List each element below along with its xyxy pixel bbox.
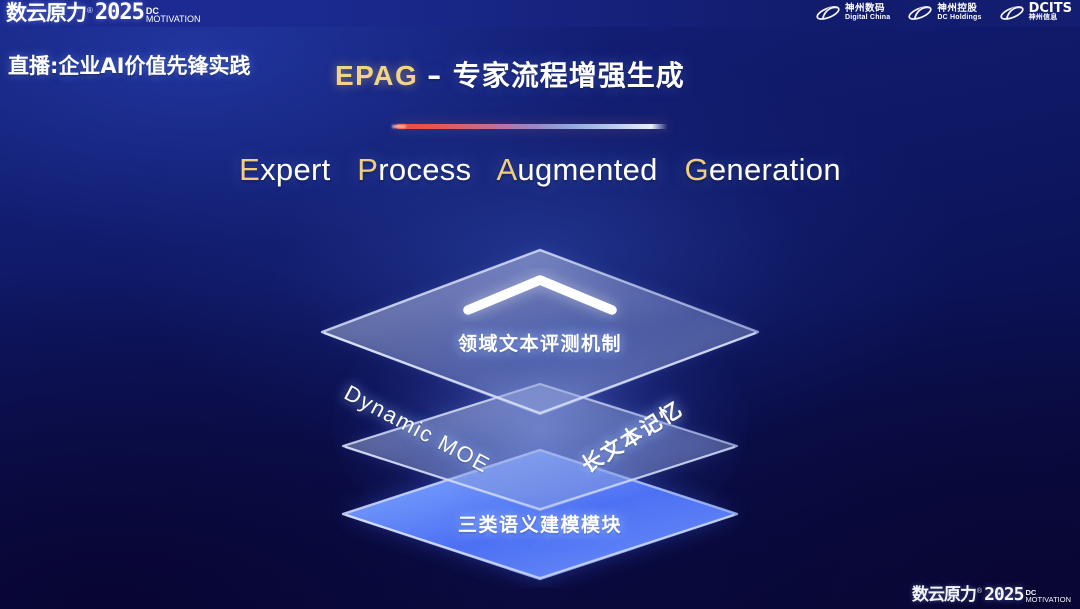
logo-label-en: 神州信息 <box>1029 13 1072 22</box>
swirl-logo-icon <box>999 3 1025 23</box>
expansion-word-expert: Expert <box>239 152 330 187</box>
watermark-year: 2025 <box>984 586 1023 604</box>
partner-logos: 神州数码 Digital China 神州控股 DC Holdings DC <box>815 3 1072 23</box>
page-title: EPAG – 专家流程增强生成 <box>335 54 685 94</box>
logo-label-en: DC Holdings <box>937 13 981 22</box>
brand-registered-mark: ® <box>87 6 93 16</box>
stack-label-top: 领域文本评测机制 <box>300 329 780 356</box>
watermark-name-cn: 数云原力 <box>912 586 976 604</box>
acronym-expansion: Expert Process Augmented Generation <box>0 152 1080 188</box>
brand-year: 2025 <box>95 2 144 24</box>
brand-name-cn: 数云原力 <box>6 2 86 24</box>
page-title-acronym: EPAG <box>335 60 418 91</box>
expansion-word-augmented: Augmented <box>496 152 657 187</box>
swirl-logo-icon <box>907 3 933 23</box>
logo-label-en: Digital China <box>845 13 890 22</box>
logo-label-cn: 神州控股 <box>937 4 981 13</box>
slide-canvas: 数云原力 ® 2025 DC MOTIVATION 神州数码 Digital C… <box>0 0 1080 609</box>
brand-motivation-text: MOTIVATION <box>146 15 201 23</box>
expansion-word-generation: Generation <box>684 152 840 187</box>
logo-label-cn: 神州数码 <box>845 4 890 13</box>
watermark-dc-motivation: DC MOTIVATION <box>1025 589 1071 603</box>
brand-dc-motivation: DC MOTIVATION <box>146 7 201 23</box>
swirl-logo-icon <box>815 3 841 23</box>
watermark-registered-mark: ® <box>977 587 982 597</box>
logo-label-cn: DCITS <box>1029 4 1072 13</box>
brand-watermark: 数云原力 ® 2025 DC MOTIVATION <box>912 586 1071 604</box>
live-stream-label: 直播:企业AI价值先锋实践 <box>8 50 250 80</box>
stack-label-bottom: 三类语义建模模块 <box>300 510 780 537</box>
watermark-motivation-text: MOTIVATION <box>1025 596 1071 603</box>
layered-stack-diagram: 领域文本评测机制 Dynamic MOE 长文本记忆 三类语义建模模块 <box>300 228 780 588</box>
brand-logo-header: 数云原力 ® 2025 DC MOTIVATION <box>6 2 201 24</box>
gradient-divider <box>396 124 668 129</box>
page-title-subtitle-cn: – 专家流程增强生成 <box>427 59 685 92</box>
logo-dcits: DCITS 神州信息 <box>999 3 1072 23</box>
logo-dc-holdings: 神州控股 DC Holdings <box>907 3 981 23</box>
logo-digital-china: 神州数码 Digital China <box>815 3 890 23</box>
expansion-word-process: Process <box>357 152 471 187</box>
